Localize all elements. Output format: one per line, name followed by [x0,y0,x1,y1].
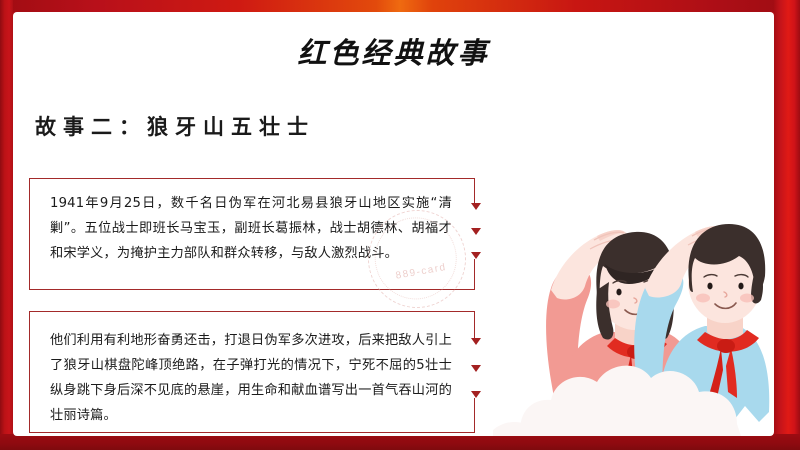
illustration-young-pioneers [493,162,774,436]
frame-band-top [0,0,800,12]
story-paragraph-2: 他们利用有利地形奋勇还击，打退日伪军多次进攻，后来把敌人引上了狼牙山棋盘陀峰顶绝… [50,328,452,428]
triangle-down-icon [471,252,481,259]
triangle-down-icon [471,365,481,372]
triangle-down-icon [471,338,481,345]
triangle-down-icon [471,391,481,398]
triangle-down-icon [471,203,481,210]
frame-band-bottom [0,434,800,450]
story-subtitle: 故事二：狼牙山五壮士 [35,111,315,141]
frame-band-left [0,0,13,450]
slide-root: 红色经典故事 故事二：狼牙山五壮士 1941年9月25日，数千名日伪军在河北易县… [0,0,800,450]
arrow-marker-group-1 [469,203,483,259]
frame-band-right [774,0,800,450]
triangle-down-icon [471,228,481,235]
arrow-marker-group-2 [469,338,483,398]
slide-content-page: 红色经典故事 故事二：狼牙山五壮士 1941年9月25日，数千名日伪军在河北易县… [13,12,774,436]
page-title: 红色经典故事 [13,30,774,72]
story-box-2: 他们利用有利地形奋勇还击，打退日伪军多次进攻，后来把敌人引上了狼牙山棋盘陀峰顶绝… [29,311,475,433]
